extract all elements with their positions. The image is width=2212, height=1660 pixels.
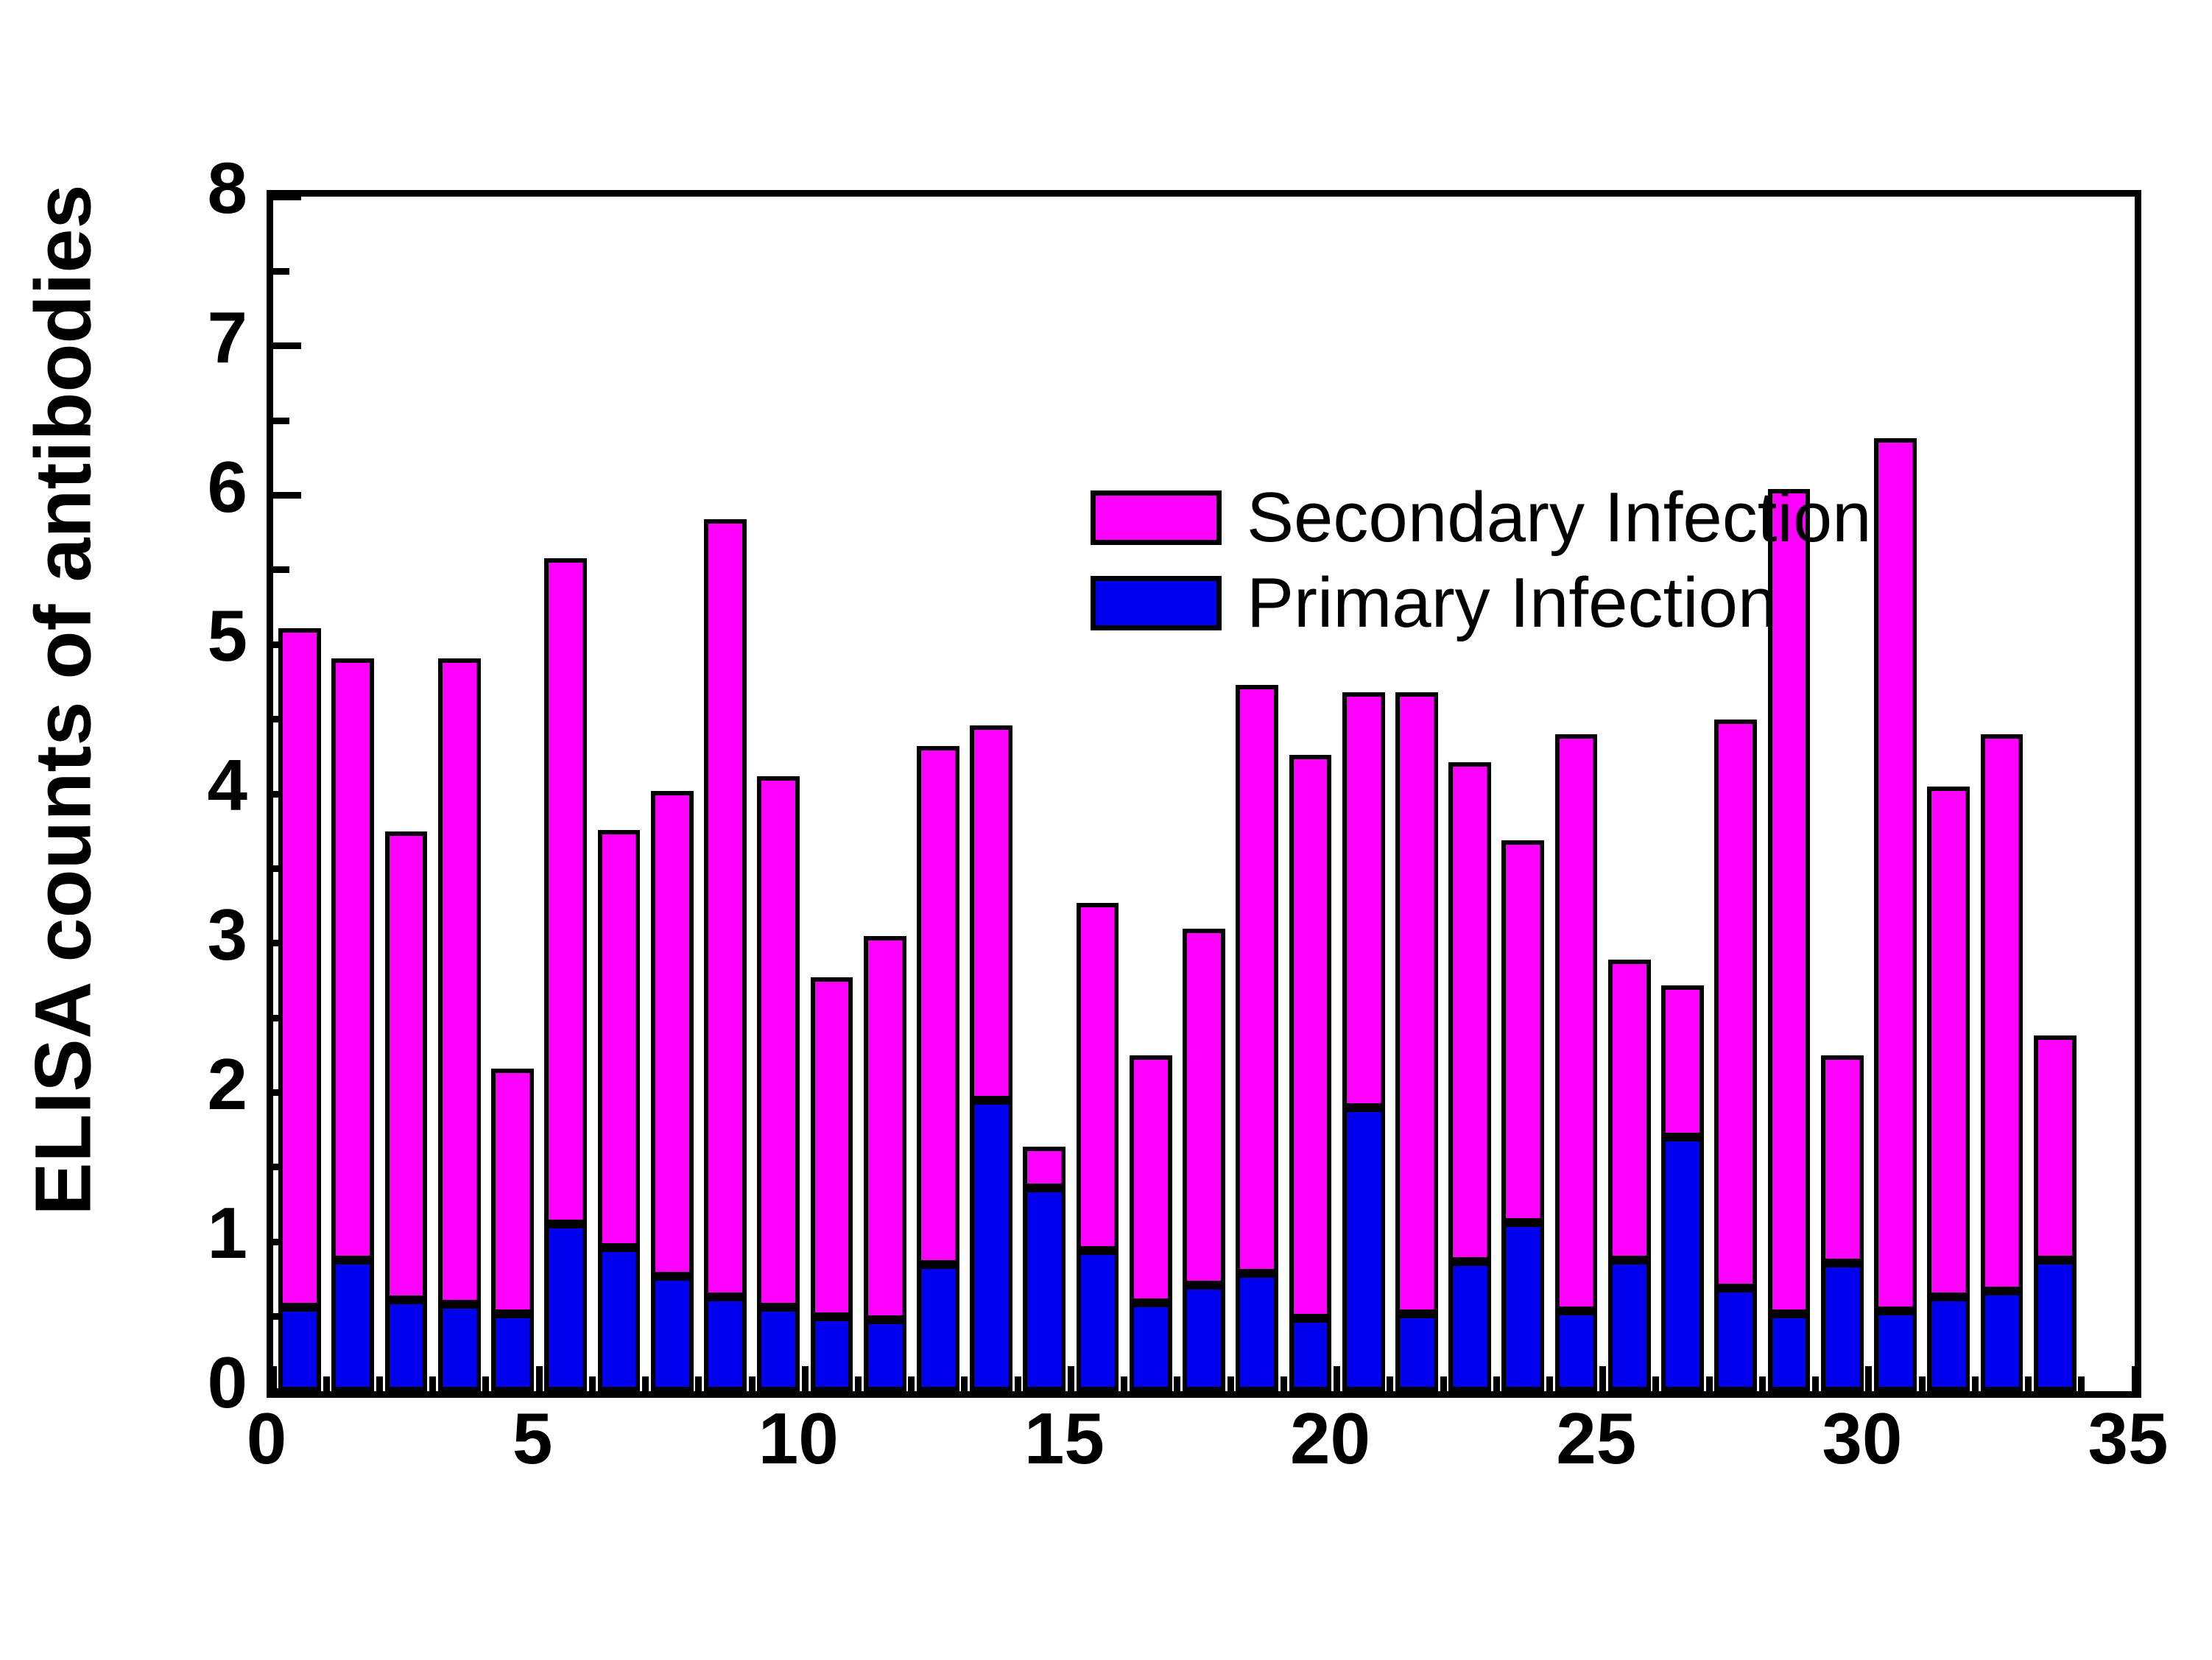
y-axis-tick-label: 2 xyxy=(144,1048,247,1120)
x-tick-minor xyxy=(1387,1376,1393,1391)
y-axis-tick-label: 6 xyxy=(144,451,247,523)
bar-stack[interactable] xyxy=(331,197,374,1391)
bar-segment-primary[interactable] xyxy=(491,1314,534,1391)
x-tick-minor xyxy=(589,1376,596,1391)
bar-stack[interactable] xyxy=(1555,197,1598,1391)
x-axis-tick-label: 35 xyxy=(2054,1402,2202,1474)
bar-segment-secondary[interactable] xyxy=(864,936,906,1320)
bar-segment-secondary[interactable] xyxy=(1342,692,1385,1108)
bar-stack[interactable] xyxy=(970,197,1012,1391)
bar-stack[interactable] xyxy=(1714,197,1757,1391)
legend-label-primary: Primary Infection xyxy=(1247,568,1777,639)
bar-segment-primary[interactable] xyxy=(1183,1285,1225,1391)
bar-stack[interactable] xyxy=(1342,197,1385,1391)
bar-segment-primary[interactable] xyxy=(1077,1251,1119,1391)
x-tick-minor xyxy=(642,1376,649,1391)
x-tick-minor xyxy=(1174,1376,1180,1391)
bar-stack[interactable] xyxy=(1448,197,1491,1391)
x-tick-major xyxy=(536,1366,543,1391)
chart-figure: ELISA counts of antibodies 012345678 051… xyxy=(0,0,2212,1660)
bar-segment-secondary[interactable] xyxy=(1023,1147,1066,1189)
bar-segment-secondary[interactable] xyxy=(917,746,959,1265)
bar-segment-secondary[interactable] xyxy=(1077,903,1119,1251)
legend-label-secondary: Secondary Infection xyxy=(1247,482,1872,553)
x-tick-minor xyxy=(1759,1376,1766,1391)
bar-stack[interactable] xyxy=(1077,197,1119,1391)
bar-stack[interactable] xyxy=(1395,197,1438,1391)
x-tick-major xyxy=(2132,1366,2138,1391)
x-tick-minor xyxy=(961,1376,968,1391)
bar-stack[interactable] xyxy=(917,197,959,1391)
bar-stack[interactable] xyxy=(1023,197,1066,1391)
x-tick-major xyxy=(802,1366,809,1391)
x-tick-minor xyxy=(376,1376,383,1391)
y-axis-tick-label: 4 xyxy=(144,749,247,821)
bar-segment-primary[interactable] xyxy=(1981,1291,2023,1391)
bar-stack[interactable] xyxy=(385,197,428,1391)
legend-item-secondary: Secondary Infection xyxy=(1091,482,1872,553)
bar-segment-primary[interactable] xyxy=(385,1300,428,1391)
bar-segment-secondary[interactable] xyxy=(1714,720,1757,1288)
bar-segment-secondary[interactable] xyxy=(438,658,481,1305)
x-tick-minor xyxy=(1812,1376,1819,1391)
y-axis-tick-label: 5 xyxy=(144,599,247,672)
bar-segment-secondary[interactable] xyxy=(544,558,587,1224)
x-tick-minor xyxy=(1652,1376,1659,1391)
x-tick-minor xyxy=(1015,1376,1021,1391)
x-tick-minor xyxy=(1493,1376,1500,1391)
bar-stack[interactable] xyxy=(1289,197,1332,1391)
bar-segment-primary[interactable] xyxy=(1927,1297,1970,1391)
legend-item-primary: Primary Infection xyxy=(1091,568,1872,639)
bar-segment-secondary[interactable] xyxy=(1927,787,1970,1297)
legend-swatch-secondary xyxy=(1091,490,1222,545)
bar-stack[interactable] xyxy=(864,197,906,1391)
bar-segment-primary[interactable] xyxy=(1448,1262,1491,1391)
bar-stack[interactable] xyxy=(2034,197,2077,1391)
bar-segment-secondary[interactable] xyxy=(1183,929,1225,1286)
bar-segment-primary[interactable] xyxy=(1395,1314,1438,1391)
x-tick-minor xyxy=(2025,1376,2032,1391)
bar-stack[interactable] xyxy=(278,197,321,1391)
bar-segment-secondary[interactable] xyxy=(1608,960,1651,1260)
bar-stack[interactable] xyxy=(1236,197,1278,1391)
bar-segment-secondary[interactable] xyxy=(1501,840,1544,1223)
bar-stack[interactable] xyxy=(1768,197,1811,1391)
bar-stack[interactable] xyxy=(1608,197,1651,1391)
bar-segment-secondary[interactable] xyxy=(1236,685,1278,1273)
bar-stack[interactable] xyxy=(651,197,694,1391)
y-axis-title: ELISA counts of antibodies xyxy=(0,0,125,1399)
bar-stack[interactable] xyxy=(598,197,641,1391)
bar-segment-primary[interactable] xyxy=(598,1248,641,1391)
bar-segment-secondary[interactable] xyxy=(1395,692,1438,1313)
x-tick-minor xyxy=(1121,1376,1127,1391)
bar-segment-primary[interactable] xyxy=(1023,1188,1066,1391)
bar-segment-secondary[interactable] xyxy=(2034,1035,2077,1259)
bar-segment-secondary[interactable] xyxy=(598,830,641,1248)
bar-segment-secondary[interactable] xyxy=(1981,734,2023,1291)
plot-area: Secondary Infection Primary Infection xyxy=(267,190,2141,1398)
bar-stack[interactable] xyxy=(811,197,853,1391)
x-tick-minor xyxy=(2078,1376,2085,1391)
bar-segment-primary[interactable] xyxy=(1130,1303,1172,1391)
bar-segment-secondary[interactable] xyxy=(1555,734,1598,1311)
x-tick-minor xyxy=(1546,1376,1553,1391)
bar-segment-primary[interactable] xyxy=(1714,1288,1757,1391)
y-axis-title-text: ELISA counts of antibodies xyxy=(17,184,109,1215)
x-tick-minor xyxy=(482,1376,489,1391)
bar-segment-secondary[interactable] xyxy=(811,977,853,1316)
x-tick-major xyxy=(1865,1366,1872,1391)
bar-stack[interactable] xyxy=(438,197,481,1391)
bar-stack[interactable] xyxy=(757,197,800,1391)
x-tick-minor xyxy=(1919,1376,1926,1391)
bar-segment-primary[interactable] xyxy=(864,1320,906,1391)
bar-segment-secondary[interactable] xyxy=(757,776,800,1308)
bar-segment-secondary[interactable] xyxy=(651,791,694,1276)
bar-stack[interactable] xyxy=(1981,197,2023,1391)
bar-segment-primary[interactable] xyxy=(1342,1108,1385,1391)
x-tick-minor xyxy=(749,1376,755,1391)
y-axis-tick-label: 7 xyxy=(144,301,247,373)
bar-segment-primary[interactable] xyxy=(1501,1223,1544,1391)
bar-segment-primary[interactable] xyxy=(1661,1137,1704,1391)
x-tick-major xyxy=(270,1366,277,1391)
bar-segment-primary[interactable] xyxy=(2034,1260,2077,1391)
bar-segment-primary[interactable] xyxy=(970,1100,1012,1391)
legend: Secondary Infection Primary Infection xyxy=(1091,482,1872,639)
bar-segment-primary[interactable] xyxy=(811,1317,853,1391)
legend-swatch-primary xyxy=(1091,576,1222,630)
bar-segment-primary[interactable] xyxy=(331,1260,374,1391)
bar-segment-secondary[interactable] xyxy=(385,831,428,1301)
bar-segment-primary[interactable] xyxy=(1555,1311,1598,1391)
x-tick-minor xyxy=(1227,1376,1234,1391)
x-axis-tick-label: 15 xyxy=(990,1402,1138,1474)
bar-segment-primary[interactable] xyxy=(651,1276,694,1391)
bar-stack[interactable] xyxy=(1501,197,1544,1391)
bar-stack[interactable] xyxy=(1927,197,1970,1391)
y-axis-tick-label: 1 xyxy=(144,1197,247,1269)
y-axis-tick-label: 3 xyxy=(144,898,247,971)
bar-segment-primary[interactable] xyxy=(438,1304,481,1391)
bar-segment-secondary[interactable] xyxy=(970,725,1012,1100)
x-axis-tick-label: 30 xyxy=(1789,1402,1936,1474)
bar-stack[interactable] xyxy=(1661,197,1704,1391)
bar-segment-secondary[interactable] xyxy=(331,658,374,1260)
x-tick-minor xyxy=(1440,1376,1447,1391)
plot-inner: Secondary Infection Primary Infection xyxy=(273,197,2135,1391)
x-tick-minor xyxy=(855,1376,862,1391)
bar-segment-secondary[interactable] xyxy=(1130,1055,1172,1304)
bar-segment-primary[interactable] xyxy=(1768,1314,1811,1391)
bar-segment-primary[interactable] xyxy=(1821,1263,1864,1391)
bar-segment-primary[interactable] xyxy=(917,1265,959,1391)
bar-segment-primary[interactable] xyxy=(704,1297,747,1391)
bar-segment-secondary[interactable] xyxy=(278,628,321,1308)
bar-segment-secondary[interactable] xyxy=(1821,1055,1864,1263)
bar-segment-secondary[interactable] xyxy=(1661,985,1704,1138)
x-tick-minor xyxy=(695,1376,702,1391)
x-axis-tick-label: 10 xyxy=(725,1402,872,1474)
bar-segment-primary[interactable] xyxy=(1236,1273,1278,1391)
bar-segment-secondary[interactable] xyxy=(1874,438,1917,1310)
x-axis-tick-label: 20 xyxy=(1257,1402,1404,1474)
bar-stack[interactable] xyxy=(491,197,534,1391)
bar-stack[interactable] xyxy=(704,197,747,1391)
y-axis-tick-label: 8 xyxy=(144,152,247,224)
x-tick-minor xyxy=(1972,1376,1979,1391)
bar-segment-primary[interactable] xyxy=(1608,1260,1651,1391)
x-tick-major xyxy=(1334,1366,1340,1391)
bar-stack[interactable] xyxy=(544,197,587,1391)
x-tick-minor xyxy=(1706,1376,1713,1391)
x-tick-minor xyxy=(908,1376,915,1391)
x-tick-minor xyxy=(1281,1376,1287,1391)
bar-stack[interactable] xyxy=(1874,197,1917,1391)
bar-segment-secondary[interactable] xyxy=(491,1069,534,1314)
bar-segment-primary[interactable] xyxy=(757,1307,800,1391)
x-tick-major xyxy=(1599,1366,1606,1391)
bar-segment-primary[interactable] xyxy=(1874,1311,1917,1391)
x-axis-tick-label: 25 xyxy=(1523,1402,1670,1474)
x-tick-minor xyxy=(323,1376,330,1391)
bar-segment-primary[interactable] xyxy=(544,1224,587,1391)
bar-segment-secondary[interactable] xyxy=(704,519,747,1297)
x-axis-tick-label: 5 xyxy=(459,1402,606,1474)
bar-stack[interactable] xyxy=(1183,197,1225,1391)
bar-stack[interactable] xyxy=(1130,197,1172,1391)
x-tick-minor xyxy=(429,1376,436,1391)
bar-segment-primary[interactable] xyxy=(1289,1318,1332,1391)
x-tick-major xyxy=(1068,1366,1074,1391)
bar-segment-secondary[interactable] xyxy=(1448,762,1491,1261)
x-axis-tick-label: 0 xyxy=(193,1402,340,1474)
bar-segment-primary[interactable] xyxy=(278,1307,321,1391)
bar-stack[interactable] xyxy=(1821,197,1864,1391)
bar-segment-secondary[interactable] xyxy=(1289,755,1332,1318)
